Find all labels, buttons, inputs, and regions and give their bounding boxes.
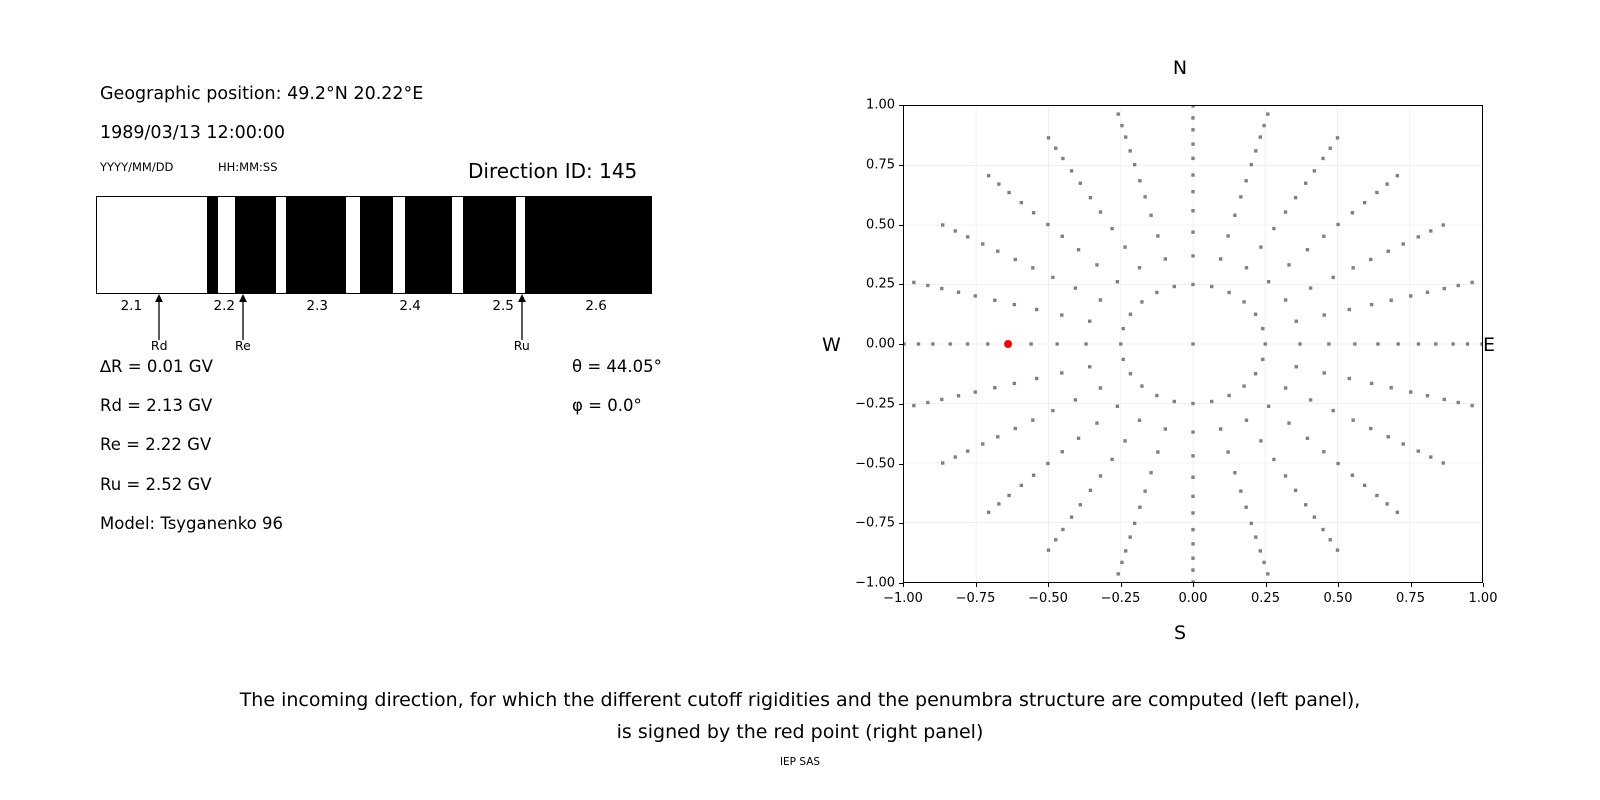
x-tick-mark bbox=[1483, 583, 1484, 587]
direction-point bbox=[1336, 136, 1339, 139]
penumbra-forbidden-band bbox=[207, 197, 218, 293]
direction-point bbox=[1088, 320, 1091, 323]
direction-point bbox=[1088, 365, 1091, 368]
direction-point bbox=[1149, 214, 1152, 217]
param-theta: θ = 44.05° bbox=[572, 357, 662, 376]
direction-point bbox=[1191, 142, 1194, 145]
direction-point bbox=[1077, 248, 1080, 251]
direction-point bbox=[1429, 229, 1432, 232]
direction-point bbox=[1054, 538, 1057, 541]
direction-point bbox=[1264, 342, 1267, 345]
direction-point bbox=[1396, 511, 1399, 514]
direction-point bbox=[1266, 112, 1269, 115]
direction-point bbox=[1369, 427, 1372, 430]
direction-point bbox=[1123, 439, 1126, 442]
right-panel: N S W E −1.00−0.75−0.50−0.250.000.250.50… bbox=[760, 0, 1600, 660]
direction-point bbox=[1014, 258, 1017, 261]
direction-point bbox=[1306, 437, 1309, 440]
direction-point bbox=[1191, 430, 1194, 433]
y-tick-mark bbox=[899, 583, 903, 584]
direction-point bbox=[1191, 476, 1194, 479]
direction-point bbox=[1417, 342, 1420, 345]
direction-point bbox=[1120, 124, 1123, 127]
direction-point bbox=[1191, 283, 1194, 286]
marker-arrow-rd-icon bbox=[154, 294, 165, 340]
direction-point bbox=[1061, 235, 1064, 238]
y-tick-mark bbox=[899, 165, 903, 166]
direction-point bbox=[1331, 409, 1334, 412]
marker-label-re: Re bbox=[235, 338, 251, 353]
direction-point bbox=[1284, 210, 1287, 213]
direction-point bbox=[912, 404, 915, 407]
compass-south-label: S bbox=[1174, 622, 1186, 644]
penumbra-x-tick-label: 2.5 bbox=[492, 298, 513, 314]
direction-point bbox=[966, 342, 969, 345]
direction-point bbox=[1122, 358, 1125, 361]
direction-point bbox=[1099, 298, 1102, 301]
direction-point bbox=[1239, 195, 1242, 198]
compass-north-label: N bbox=[1173, 57, 1187, 79]
direction-point bbox=[1254, 535, 1257, 538]
y-tick-mark bbox=[899, 344, 903, 345]
y-tick-label: 0.25 bbox=[845, 277, 895, 292]
direction-point bbox=[1396, 174, 1399, 177]
direction-point bbox=[1306, 248, 1309, 251]
direction-point bbox=[1351, 474, 1354, 477]
direction-point bbox=[1309, 398, 1312, 401]
direction-point bbox=[981, 442, 984, 445]
direction-point bbox=[1227, 291, 1230, 294]
direction-point bbox=[1298, 342, 1301, 345]
direction-point bbox=[1417, 235, 1420, 238]
direction-point bbox=[1143, 195, 1146, 198]
penumbra-x-axis: 2.12.22.32.42.52.6RdReRu bbox=[96, 294, 652, 354]
direction-point bbox=[1327, 342, 1330, 345]
x-tick-mark bbox=[1193, 583, 1194, 587]
penumbra-forbidden-band bbox=[235, 197, 277, 293]
penumbra-x-tick-label: 2.1 bbox=[121, 298, 142, 314]
direction-point bbox=[1434, 342, 1437, 345]
x-tick-mark bbox=[903, 583, 904, 587]
direction-point bbox=[1387, 435, 1390, 438]
direction-point bbox=[1429, 455, 1432, 458]
direction-point bbox=[1272, 458, 1275, 461]
direction-point bbox=[1294, 196, 1297, 199]
direction-point bbox=[926, 401, 929, 404]
penumbra-forbidden-band bbox=[360, 197, 393, 293]
direction-point bbox=[1426, 291, 1429, 294]
direction-point bbox=[1259, 549, 1262, 552]
direction-point bbox=[1304, 503, 1307, 506]
direction-point bbox=[1210, 400, 1213, 403]
direction-point bbox=[1348, 308, 1351, 311]
y-tick-mark bbox=[899, 404, 903, 405]
y-tick-label: −0.75 bbox=[845, 516, 895, 531]
direction-point bbox=[1046, 462, 1049, 465]
direction-point bbox=[1261, 327, 1264, 330]
direction-point bbox=[1054, 146, 1057, 149]
direction-point bbox=[1329, 146, 1332, 149]
direction-point bbox=[1457, 284, 1460, 287]
marker-arrow-ru-icon bbox=[516, 294, 527, 340]
direction-point bbox=[1331, 276, 1334, 279]
direction-point bbox=[957, 291, 960, 294]
direction-point bbox=[1116, 405, 1119, 408]
direction-point bbox=[1336, 223, 1339, 226]
direction-point bbox=[1409, 294, 1412, 297]
direction-point bbox=[1254, 313, 1257, 316]
direction-point bbox=[1020, 484, 1023, 487]
direction-point bbox=[1060, 313, 1063, 316]
penumbra-plot-area bbox=[96, 196, 652, 294]
direction-point bbox=[1375, 191, 1378, 194]
direction-point bbox=[1173, 285, 1176, 288]
direction-point bbox=[1351, 418, 1354, 421]
direction-point bbox=[1321, 157, 1324, 160]
direction-point bbox=[1351, 266, 1354, 269]
direction-point bbox=[1191, 190, 1194, 193]
direction-point bbox=[1363, 484, 1366, 487]
direction-point bbox=[1304, 182, 1307, 185]
direction-point bbox=[1226, 450, 1229, 453]
direction-point bbox=[1376, 342, 1379, 345]
direction-point bbox=[949, 342, 952, 345]
direction-point bbox=[1250, 163, 1253, 166]
penumbra-forbidden-band bbox=[463, 197, 516, 293]
direction-point bbox=[1295, 320, 1298, 323]
marker-arrow-re-icon bbox=[237, 294, 248, 340]
direction-point bbox=[1385, 182, 1388, 185]
direction-point bbox=[1245, 266, 1248, 269]
param-rd: Rd = 2.13 GV bbox=[100, 396, 212, 415]
direction-scatter-plot bbox=[903, 105, 1483, 583]
direction-point bbox=[1426, 394, 1429, 397]
direction-point bbox=[1095, 421, 1098, 424]
direction-point bbox=[1287, 421, 1290, 424]
direction-point bbox=[1259, 439, 1262, 442]
direction-point bbox=[1191, 511, 1194, 514]
left-panel: Geographic position: 49.2°N 20.22°E 1989… bbox=[0, 0, 760, 620]
direction-point bbox=[1442, 461, 1445, 464]
direction-point bbox=[974, 390, 977, 393]
y-tick-label: −0.50 bbox=[845, 456, 895, 471]
direction-point bbox=[1329, 538, 1332, 541]
direction-point bbox=[1387, 249, 1390, 252]
geographic-position-label: Geographic position: 49.2°N 20.22°E bbox=[100, 84, 423, 104]
direction-point bbox=[986, 342, 989, 345]
direction-point bbox=[1099, 474, 1102, 477]
y-tick-mark bbox=[899, 225, 903, 226]
penumbra-chart bbox=[96, 196, 652, 294]
figure-caption: The incoming direction, for which the di… bbox=[0, 684, 1600, 748]
direction-point bbox=[1457, 401, 1460, 404]
direction-point bbox=[1055, 342, 1058, 345]
x-tick-label: −0.75 bbox=[956, 591, 996, 606]
direction-point bbox=[1284, 386, 1287, 389]
direction-point bbox=[1363, 201, 1366, 204]
direction-point bbox=[912, 281, 915, 284]
direction-point bbox=[1191, 209, 1194, 212]
direction-point bbox=[941, 461, 944, 464]
direction-point bbox=[1242, 300, 1245, 303]
direction-point bbox=[1370, 303, 1373, 306]
direction-point bbox=[1120, 561, 1123, 564]
direction-point bbox=[1047, 136, 1050, 139]
direction-point bbox=[1313, 515, 1316, 518]
direction-point bbox=[1110, 458, 1113, 461]
direction-point bbox=[987, 174, 990, 177]
direction-point bbox=[1061, 528, 1064, 531]
direction-point bbox=[1191, 580, 1194, 582]
direction-point bbox=[1322, 450, 1325, 453]
direction-point bbox=[904, 342, 906, 345]
direction-point bbox=[1259, 135, 1262, 138]
direction-point bbox=[1143, 489, 1146, 492]
direction-point bbox=[1089, 196, 1092, 199]
direction-point bbox=[1128, 535, 1131, 538]
direction-point bbox=[1099, 210, 1102, 213]
direction-point bbox=[1244, 506, 1247, 509]
direction-point bbox=[1351, 211, 1354, 214]
x-tick-label: 1.00 bbox=[1469, 591, 1498, 606]
direction-point bbox=[1239, 489, 1242, 492]
direction-point bbox=[1070, 515, 1073, 518]
direction-point bbox=[1191, 557, 1194, 560]
x-tick-label: 0.75 bbox=[1396, 591, 1425, 606]
direction-point bbox=[1191, 230, 1194, 233]
direction-point bbox=[993, 386, 996, 389]
direction-point bbox=[974, 294, 977, 297]
direction-point bbox=[1370, 382, 1373, 385]
direction-point bbox=[1336, 462, 1339, 465]
direction-point bbox=[1149, 471, 1152, 474]
param-delta-r: ∆R = 0.01 GV bbox=[100, 357, 213, 376]
date-format-hint: YYYY/MM/DD bbox=[100, 160, 173, 174]
direction-point bbox=[1074, 398, 1077, 401]
direction-point bbox=[1250, 522, 1253, 525]
direction-point bbox=[1210, 285, 1213, 288]
direction-point bbox=[1254, 372, 1257, 375]
direction-point bbox=[1402, 242, 1405, 245]
direction-point bbox=[1164, 257, 1167, 260]
x-tick-label: −1.00 bbox=[883, 591, 923, 606]
y-tick-mark bbox=[899, 464, 903, 465]
direction-point bbox=[1061, 157, 1064, 160]
direction-point bbox=[1060, 371, 1063, 374]
direction-point bbox=[1117, 572, 1120, 575]
direction-point bbox=[1191, 528, 1194, 531]
direction-point bbox=[940, 398, 943, 401]
direction-point bbox=[1061, 450, 1064, 453]
x-tick-label: 0.25 bbox=[1251, 591, 1280, 606]
caption-line-1: The incoming direction, for which the di… bbox=[0, 684, 1600, 716]
direction-point bbox=[1470, 281, 1473, 284]
direction-point bbox=[1396, 342, 1399, 345]
direction-point bbox=[1032, 474, 1035, 477]
direction-point bbox=[1128, 149, 1131, 152]
direction-point bbox=[1390, 386, 1393, 389]
direction-point bbox=[1261, 358, 1264, 361]
direction-point bbox=[1110, 227, 1113, 230]
direction-point bbox=[1443, 287, 1446, 290]
direction-point bbox=[1140, 384, 1143, 387]
scatter-canvas bbox=[904, 106, 1482, 582]
y-tick-mark bbox=[899, 105, 903, 106]
x-tick-label: 0.50 bbox=[1324, 591, 1353, 606]
direction-point bbox=[966, 449, 969, 452]
marker-label-rd: Rd bbox=[151, 338, 168, 353]
direction-point bbox=[1133, 522, 1136, 525]
penumbra-x-tick-label: 2.3 bbox=[306, 298, 327, 314]
direction-point bbox=[954, 229, 957, 232]
direction-point bbox=[1323, 371, 1326, 374]
direction-point bbox=[996, 435, 999, 438]
x-tick-label: −0.50 bbox=[1028, 591, 1068, 606]
direction-point bbox=[1348, 377, 1351, 380]
direction-point bbox=[1309, 286, 1312, 289]
penumbra-forbidden-band bbox=[286, 197, 346, 293]
direction-point bbox=[1390, 299, 1393, 302]
direction-point bbox=[1119, 342, 1122, 345]
direction-point bbox=[1123, 245, 1126, 248]
direction-point bbox=[1133, 163, 1136, 166]
direction-point bbox=[1284, 474, 1287, 477]
datetime-label: 1989/03/13 12:00:00 bbox=[100, 123, 285, 143]
y-tick-mark bbox=[899, 284, 903, 285]
direction-point bbox=[1077, 437, 1080, 440]
y-tick-label: 0.75 bbox=[845, 157, 895, 172]
direction-point bbox=[1191, 454, 1194, 457]
y-tick-label: 1.00 bbox=[845, 98, 895, 113]
direction-point bbox=[1156, 234, 1159, 237]
param-re: Re = 2.22 GV bbox=[100, 435, 211, 454]
direction-point bbox=[997, 502, 1000, 505]
direction-point bbox=[1375, 494, 1378, 497]
direction-point bbox=[1417, 449, 1420, 452]
direction-point bbox=[996, 249, 999, 252]
direction-point bbox=[1191, 173, 1194, 176]
direction-point bbox=[993, 299, 996, 302]
direction-point bbox=[1267, 405, 1270, 408]
direction-point bbox=[1079, 182, 1082, 185]
direction-point bbox=[1245, 419, 1248, 422]
direction-point bbox=[1466, 342, 1469, 345]
direction-point bbox=[1046, 223, 1049, 226]
y-tick-label: −1.00 bbox=[845, 576, 895, 591]
direction-point bbox=[1013, 382, 1016, 385]
direction-point bbox=[1322, 235, 1325, 238]
direction-point bbox=[1155, 394, 1158, 397]
direction-point bbox=[1138, 419, 1141, 422]
direction-point bbox=[1409, 390, 1412, 393]
direction-point bbox=[1259, 245, 1262, 248]
direction-point bbox=[1173, 400, 1176, 403]
direction-point bbox=[1470, 404, 1473, 407]
direction-point bbox=[1254, 149, 1257, 152]
direction-point bbox=[926, 284, 929, 287]
direction-point bbox=[1233, 471, 1236, 474]
direction-point bbox=[1353, 342, 1356, 345]
direction-point bbox=[1262, 561, 1265, 564]
direction-point bbox=[1013, 303, 1016, 306]
penumbra-x-tick-label: 2.2 bbox=[214, 298, 235, 314]
direction-point bbox=[1323, 313, 1326, 316]
direction-point bbox=[1321, 528, 1324, 531]
direction-point bbox=[1451, 342, 1454, 345]
direction-point bbox=[1084, 342, 1087, 345]
compass-east-label: E bbox=[1483, 334, 1495, 356]
direction-point bbox=[1262, 124, 1265, 127]
direction-point bbox=[1287, 263, 1290, 266]
x-tick-mark bbox=[1121, 583, 1122, 587]
y-tick-mark bbox=[899, 523, 903, 524]
direction-point bbox=[1095, 263, 1098, 266]
direction-point bbox=[1191, 402, 1194, 405]
direction-point bbox=[1219, 257, 1222, 260]
direction-point bbox=[1191, 106, 1194, 108]
direction-point bbox=[1051, 409, 1054, 412]
direction-point bbox=[1227, 394, 1230, 397]
selected-direction-point[interactable] bbox=[1004, 340, 1012, 348]
direction-point bbox=[1480, 342, 1482, 345]
direction-point bbox=[1191, 157, 1194, 160]
direction-point bbox=[1035, 308, 1038, 311]
direction-point bbox=[941, 223, 944, 226]
direction-point bbox=[1191, 342, 1194, 345]
direction-point bbox=[1191, 128, 1194, 131]
direction-point bbox=[981, 242, 984, 245]
penumbra-forbidden-band bbox=[525, 197, 651, 293]
direction-point bbox=[1191, 568, 1194, 571]
direction-point bbox=[1156, 450, 1159, 453]
direction-point bbox=[1117, 112, 1120, 115]
direction-point bbox=[1032, 211, 1035, 214]
direction-point bbox=[1051, 276, 1054, 279]
direction-point bbox=[931, 342, 934, 345]
caption-line-2: is signed by the red point (right panel) bbox=[0, 716, 1600, 748]
direction-point bbox=[1079, 503, 1082, 506]
direction-point bbox=[1089, 489, 1092, 492]
direction-point bbox=[1385, 502, 1388, 505]
direction-point bbox=[1140, 300, 1143, 303]
direction-point bbox=[987, 511, 990, 514]
direction-point bbox=[1284, 298, 1287, 301]
direction-point bbox=[1035, 377, 1038, 380]
direction-point bbox=[1313, 169, 1316, 172]
x-tick-mark bbox=[1048, 583, 1049, 587]
direction-point bbox=[1155, 291, 1158, 294]
direction-point bbox=[1272, 227, 1275, 230]
direction-point bbox=[1244, 179, 1247, 182]
direction-point bbox=[1122, 327, 1125, 330]
direction-point bbox=[1029, 342, 1032, 345]
penumbra-forbidden-band bbox=[405, 197, 452, 293]
param-phi: φ = 0.0° bbox=[572, 396, 642, 415]
direction-point bbox=[1031, 418, 1034, 421]
direction-point bbox=[1369, 258, 1372, 261]
direction-point bbox=[1124, 549, 1127, 552]
direction-point bbox=[1191, 254, 1194, 257]
direction-point bbox=[1047, 548, 1050, 551]
x-tick-label: 0.00 bbox=[1179, 591, 1208, 606]
direction-point bbox=[1070, 169, 1073, 172]
penumbra-x-tick-label: 2.4 bbox=[399, 298, 420, 314]
x-tick-mark bbox=[1338, 583, 1339, 587]
direction-point bbox=[1443, 398, 1446, 401]
direction-point bbox=[1242, 384, 1245, 387]
y-tick-label: 0.50 bbox=[845, 217, 895, 232]
direction-point bbox=[940, 287, 943, 290]
